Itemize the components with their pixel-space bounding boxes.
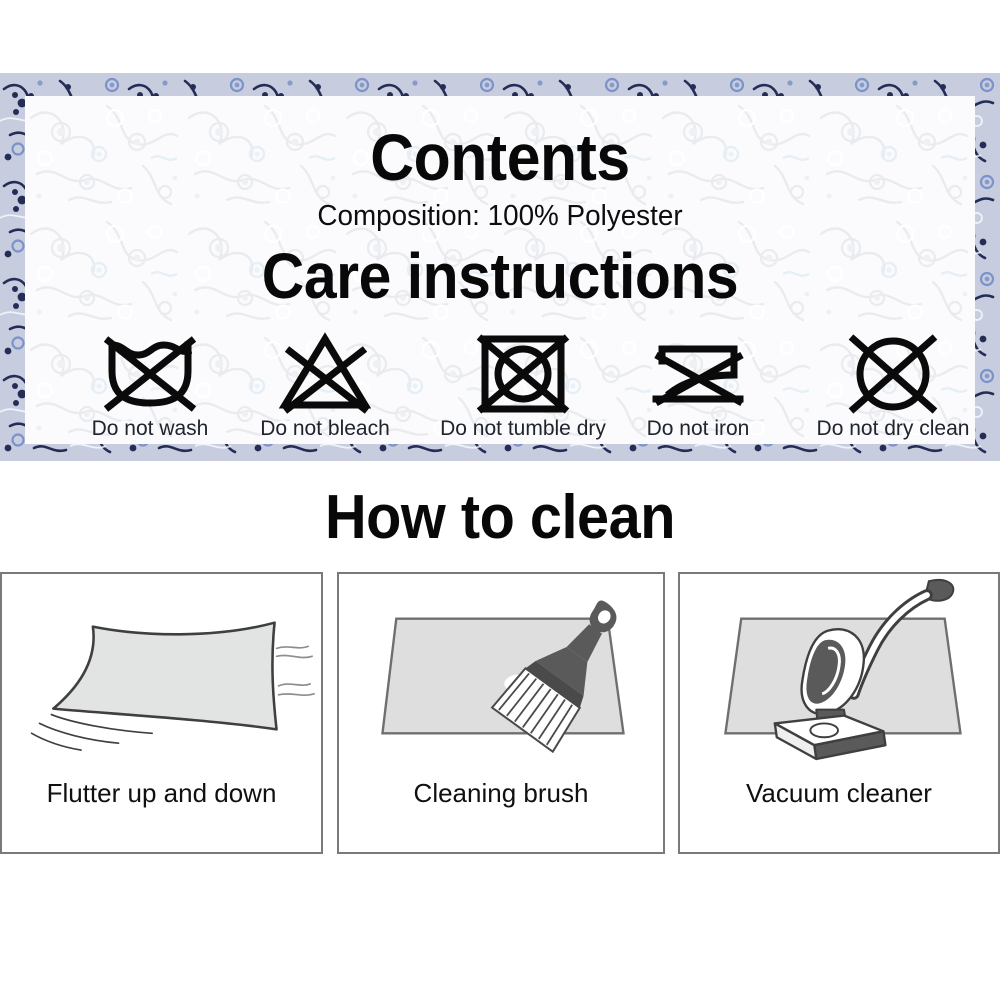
how-to-clean-heading: How to clean xyxy=(35,487,965,549)
composition-text: Composition: 100% Polyester xyxy=(44,202,956,231)
contents-heading: Contents xyxy=(63,124,937,190)
clean-panel-vacuum[interactable]: Vacuum cleaner xyxy=(678,572,1000,854)
how-to-clean-panels: Flutter up and down xyxy=(0,572,1000,854)
care-item-do-not-wash: Do not wash xyxy=(65,331,235,439)
care-label: Do not iron xyxy=(613,418,783,439)
fluttering-fabric-icon xyxy=(2,574,321,782)
do-not-bleach-icon xyxy=(240,331,410,417)
do-not-dry-clean-icon xyxy=(808,331,975,417)
care-instructions-heading: Care instructions xyxy=(63,244,937,308)
care-label: Do not wash xyxy=(65,418,235,439)
do-not-wash-icon xyxy=(65,331,235,417)
do-not-iron-icon xyxy=(613,331,783,417)
panel-caption: Vacuum cleaner xyxy=(680,780,998,806)
clean-panel-flutter[interactable]: Flutter up and down xyxy=(0,572,323,854)
care-item-do-not-bleach: Do not bleach xyxy=(240,331,410,439)
banner-inner-panel: Contents Composition: 100% Polyester Car… xyxy=(25,96,975,444)
care-label: Do not tumble dry xyxy=(438,418,608,439)
panel-caption: Cleaning brush xyxy=(339,780,663,806)
do-not-tumble-dry-icon xyxy=(438,331,608,417)
clean-panel-brush[interactable]: Cleaning brush xyxy=(337,572,665,854)
care-item-do-not-dry-clean: Do not dry clean xyxy=(808,331,975,439)
cleaning-brush-icon xyxy=(339,574,663,782)
care-instructions-banner: Contents Composition: 100% Polyester Car… xyxy=(0,73,1000,461)
care-label: Do not bleach xyxy=(240,418,410,439)
care-item-do-not-tumble-dry: Do not tumble dry xyxy=(438,331,608,439)
vacuum-cleaner-icon xyxy=(680,574,998,782)
care-item-do-not-iron: Do not iron xyxy=(613,331,783,439)
care-symbols-row: Do not wash Do not bleach xyxy=(25,331,975,441)
care-label: Do not dry clean xyxy=(808,418,975,439)
panel-caption: Flutter up and down xyxy=(2,780,321,806)
